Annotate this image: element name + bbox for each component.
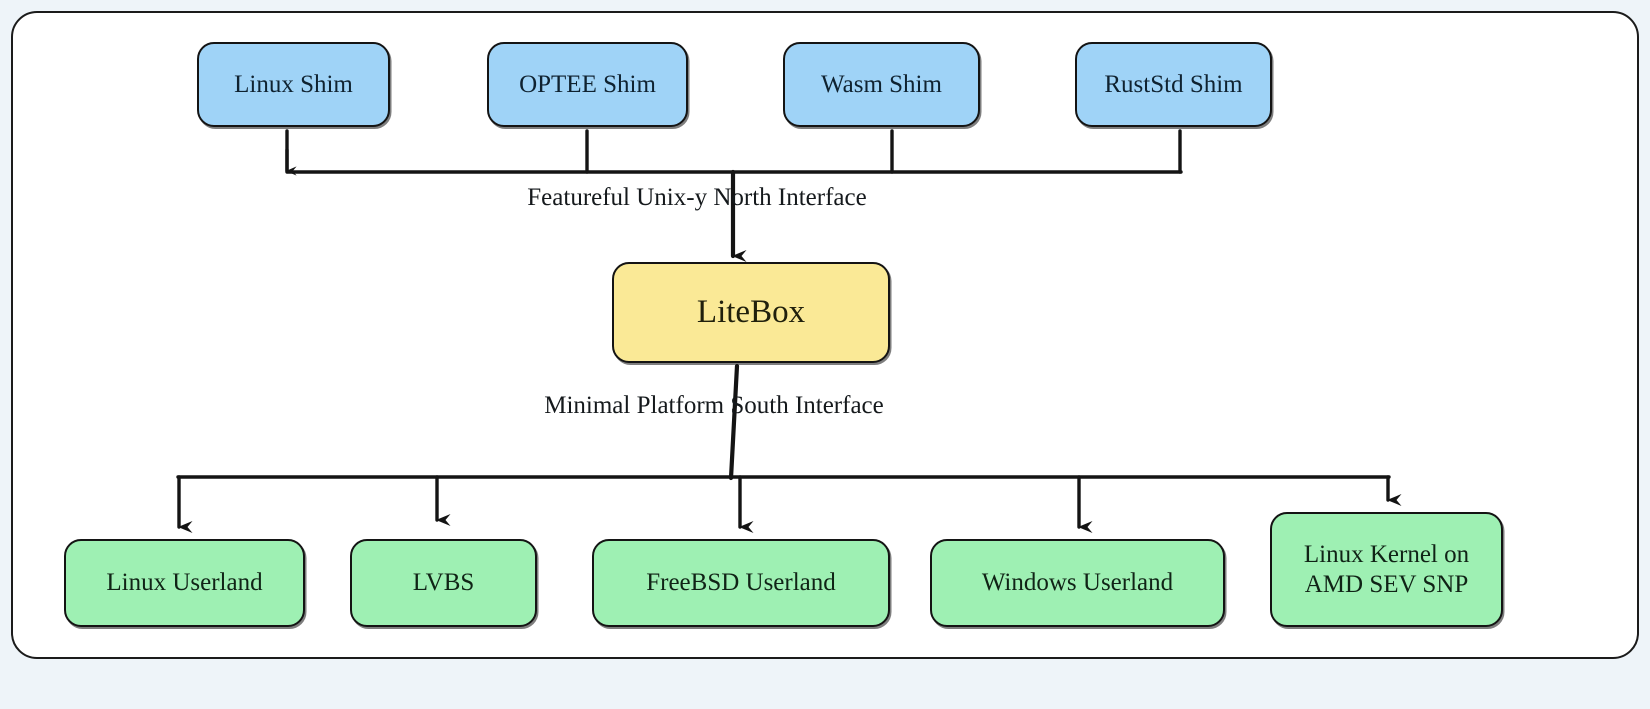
node-ruststd-shim-label: RustStd Shim bbox=[1104, 70, 1242, 100]
node-lvbs-label: LVBS bbox=[413, 568, 475, 598]
node-optee-shim[interactable]: OPTEE Shim bbox=[487, 42, 688, 127]
node-linux-kernel-sev-label: Linux Kernel on AMD SEV SNP bbox=[1304, 540, 1469, 600]
node-freebsd-userland[interactable]: FreeBSD Userland bbox=[592, 539, 890, 627]
node-linux-shim[interactable]: Linux Shim bbox=[197, 42, 390, 127]
node-ruststd-shim[interactable]: RustStd Shim bbox=[1075, 42, 1272, 127]
node-optee-shim-label: OPTEE Shim bbox=[519, 70, 656, 100]
node-linux-kernel-sev[interactable]: Linux Kernel on AMD SEV SNP bbox=[1270, 512, 1503, 627]
node-wasm-shim[interactable]: Wasm Shim bbox=[783, 42, 980, 127]
node-litebox[interactable]: LiteBox bbox=[612, 262, 890, 363]
north-interface-label: Featureful Unix-y North Interface bbox=[527, 184, 866, 212]
node-linux-shim-label: Linux Shim bbox=[234, 70, 353, 100]
south-interface-label: Minimal Platform South Interface bbox=[544, 392, 884, 420]
node-litebox-label: LiteBox bbox=[697, 293, 805, 333]
node-linux-userland[interactable]: Linux Userland bbox=[64, 539, 305, 627]
node-freebsd-userland-label: FreeBSD Userland bbox=[646, 568, 836, 598]
node-linux-userland-label: Linux Userland bbox=[106, 568, 262, 598]
diagram-canvas: Linux Shim OPTEE Shim Wasm Shim RustStd … bbox=[0, 0, 1650, 709]
node-wasm-shim-label: Wasm Shim bbox=[821, 70, 942, 100]
node-windows-userland[interactable]: Windows Userland bbox=[930, 539, 1225, 627]
node-lvbs[interactable]: LVBS bbox=[350, 539, 537, 627]
node-windows-userland-label: Windows Userland bbox=[982, 568, 1173, 598]
